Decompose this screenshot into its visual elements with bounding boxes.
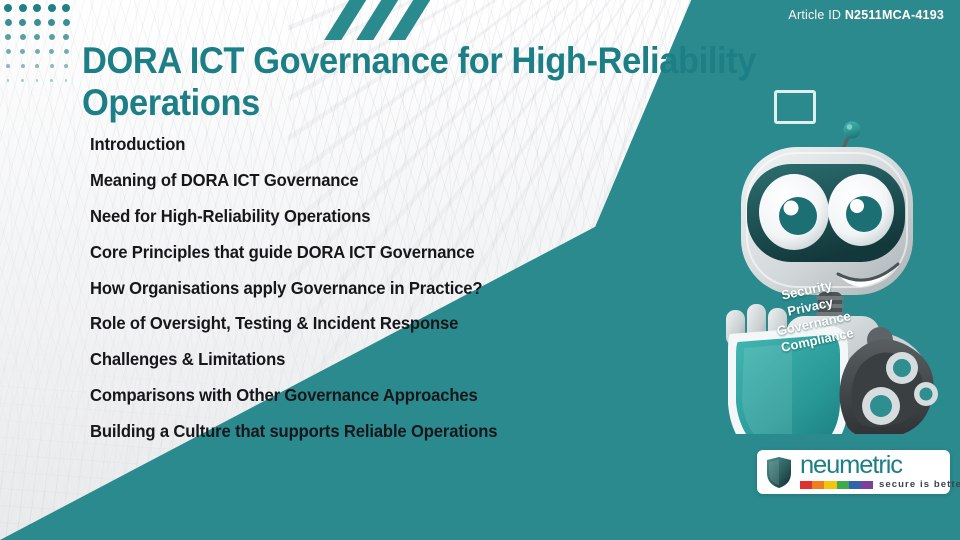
grid-dot bbox=[6, 49, 11, 54]
toc-item-6[interactable]: Role of Oversight, Testing & Incident Re… bbox=[90, 315, 698, 333]
grid-dot bbox=[64, 64, 68, 68]
grid-dot bbox=[6, 64, 10, 68]
grid-dot bbox=[49, 34, 55, 40]
grid-dot bbox=[62, 4, 70, 12]
robot-mascot-illustration bbox=[718, 104, 960, 434]
rainbow-segment-6 bbox=[861, 481, 873, 489]
rainbow-segment-2 bbox=[812, 481, 824, 489]
slash-mark bbox=[186, 468, 255, 540]
logo-tagline: secure is better bbox=[879, 479, 960, 490]
grid-dot bbox=[48, 4, 56, 12]
logo-shield-icon bbox=[765, 456, 793, 489]
grid-dot bbox=[19, 4, 27, 12]
toc-item-1[interactable]: Introduction bbox=[90, 136, 698, 154]
neumetric-logo: neumetric secure is better bbox=[757, 450, 950, 494]
article-id: Article ID N2511MCA-4193 bbox=[788, 8, 944, 22]
presentation-slide: Article ID N2511MCA-4193 DORA ICT Govern… bbox=[0, 0, 960, 540]
grid-dot bbox=[34, 34, 40, 40]
toc-item-2[interactable]: Meaning of DORA ICT Governance bbox=[90, 172, 698, 190]
logo-rainbow-bar bbox=[800, 481, 873, 489]
toc-item-9[interactable]: Building a Culture that supports Reliabl… bbox=[90, 423, 698, 441]
slide-title: DORA ICT Governance for High-Reliability… bbox=[82, 40, 770, 124]
grid-dot bbox=[63, 19, 70, 26]
grid-dot bbox=[5, 34, 11, 40]
dot-grid-decoration bbox=[4, 4, 82, 82]
article-id-label: Article ID bbox=[788, 8, 841, 22]
article-id-value: N2511MCA-4193 bbox=[845, 8, 944, 22]
table-of-contents: IntroductionMeaning of DORA ICT Governan… bbox=[90, 136, 730, 459]
toc-item-7[interactable]: Challenges & Limitations bbox=[90, 351, 698, 369]
slash-mark bbox=[356, 0, 400, 40]
logo-wordmark: neumetric bbox=[800, 454, 960, 478]
grid-dot bbox=[36, 79, 39, 82]
grid-dot bbox=[50, 79, 53, 82]
grid-dot bbox=[34, 19, 41, 26]
diagonal-slashes-bottom bbox=[120, 468, 270, 540]
grid-dot bbox=[35, 49, 40, 54]
grid-dot bbox=[21, 64, 25, 68]
grid-dot bbox=[64, 49, 69, 54]
diagonal-slashes-top bbox=[330, 0, 440, 40]
rainbow-segment-4 bbox=[837, 481, 849, 489]
grid-dot bbox=[48, 19, 55, 26]
grid-dot bbox=[19, 19, 26, 26]
grid-dot bbox=[49, 49, 54, 54]
grid-dot bbox=[5, 19, 12, 26]
slash-mark bbox=[102, 468, 171, 540]
rainbow-segment-1 bbox=[800, 481, 812, 489]
slash-mark bbox=[388, 0, 432, 40]
grid-dot bbox=[65, 79, 68, 82]
grid-dot bbox=[4, 4, 12, 12]
grid-dot bbox=[50, 64, 54, 68]
rainbow-segment-3 bbox=[824, 481, 836, 489]
toc-item-3[interactable]: Need for High-Reliability Operations bbox=[90, 208, 698, 226]
grid-dot bbox=[33, 4, 41, 12]
grid-dot bbox=[7, 79, 10, 82]
grid-dot bbox=[63, 34, 69, 40]
toc-item-5[interactable]: How Organisations apply Governance in Pr… bbox=[90, 280, 698, 298]
grid-dot bbox=[20, 34, 26, 40]
grid-dot bbox=[21, 79, 24, 82]
slash-mark bbox=[144, 468, 213, 540]
rainbow-segment-5 bbox=[849, 481, 861, 489]
grid-dot bbox=[20, 49, 25, 54]
toc-item-4[interactable]: Core Principles that guide DORA ICT Gove… bbox=[90, 244, 698, 262]
grid-dot bbox=[35, 64, 39, 68]
slash-mark bbox=[324, 0, 368, 40]
toc-item-8[interactable]: Comparisons with Other Governance Approa… bbox=[90, 387, 698, 405]
